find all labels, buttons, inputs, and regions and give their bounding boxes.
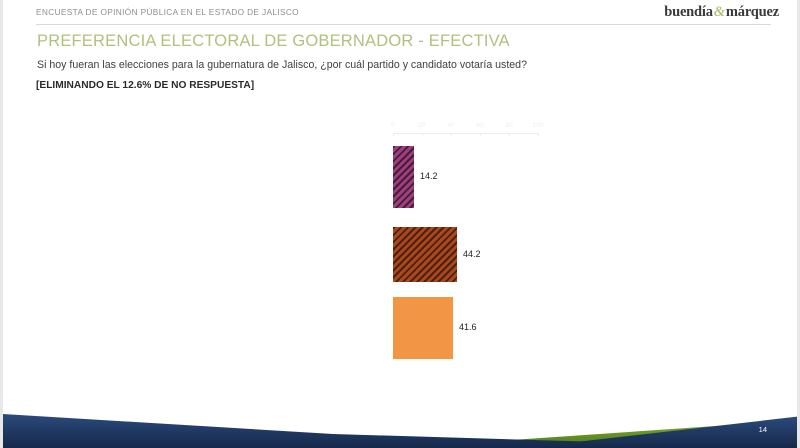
axis-tick-label-80: 80 (505, 122, 512, 129)
bar-rect[interactable] (393, 227, 457, 282)
bar-value-label: 14.2 (420, 171, 438, 181)
bar-value-label: 44.2 (463, 249, 481, 259)
axis-tick-20 (422, 133, 423, 136)
axis-tick-100 (538, 133, 539, 136)
axis-tick-label-40: 40 (447, 122, 454, 129)
axis-baseline (393, 133, 539, 134)
footer-decoration-icon (3, 386, 800, 448)
axis-tick-60 (480, 133, 481, 136)
slide: ENCUESTA DE OPINIÓN PÚBLICA EN EL ESTADO… (0, 0, 800, 448)
axis-tick-label-0: 0 (391, 122, 395, 129)
page-number: 14 (759, 425, 767, 434)
axis-tick-40 (451, 133, 452, 136)
axis-tick-label-60: 60 (476, 122, 483, 129)
chart-x-axis: 0 20 40 60 80 100 (393, 133, 539, 134)
axis-tick-80 (509, 133, 510, 136)
axis-tick-0 (393, 133, 394, 136)
bar-rect[interactable] (393, 297, 453, 359)
axis-tick-label-20: 20 (418, 122, 425, 129)
bar-value-label: 41.6 (459, 322, 477, 332)
bar-chart: 0 20 40 60 80 100 Haro del PAN-PRI-PRD 1… (3, 0, 800, 380)
axis-tick-label-100: 100 (532, 122, 543, 129)
slide-footer: 14 (3, 386, 800, 448)
bar-rect[interactable] (393, 146, 414, 208)
